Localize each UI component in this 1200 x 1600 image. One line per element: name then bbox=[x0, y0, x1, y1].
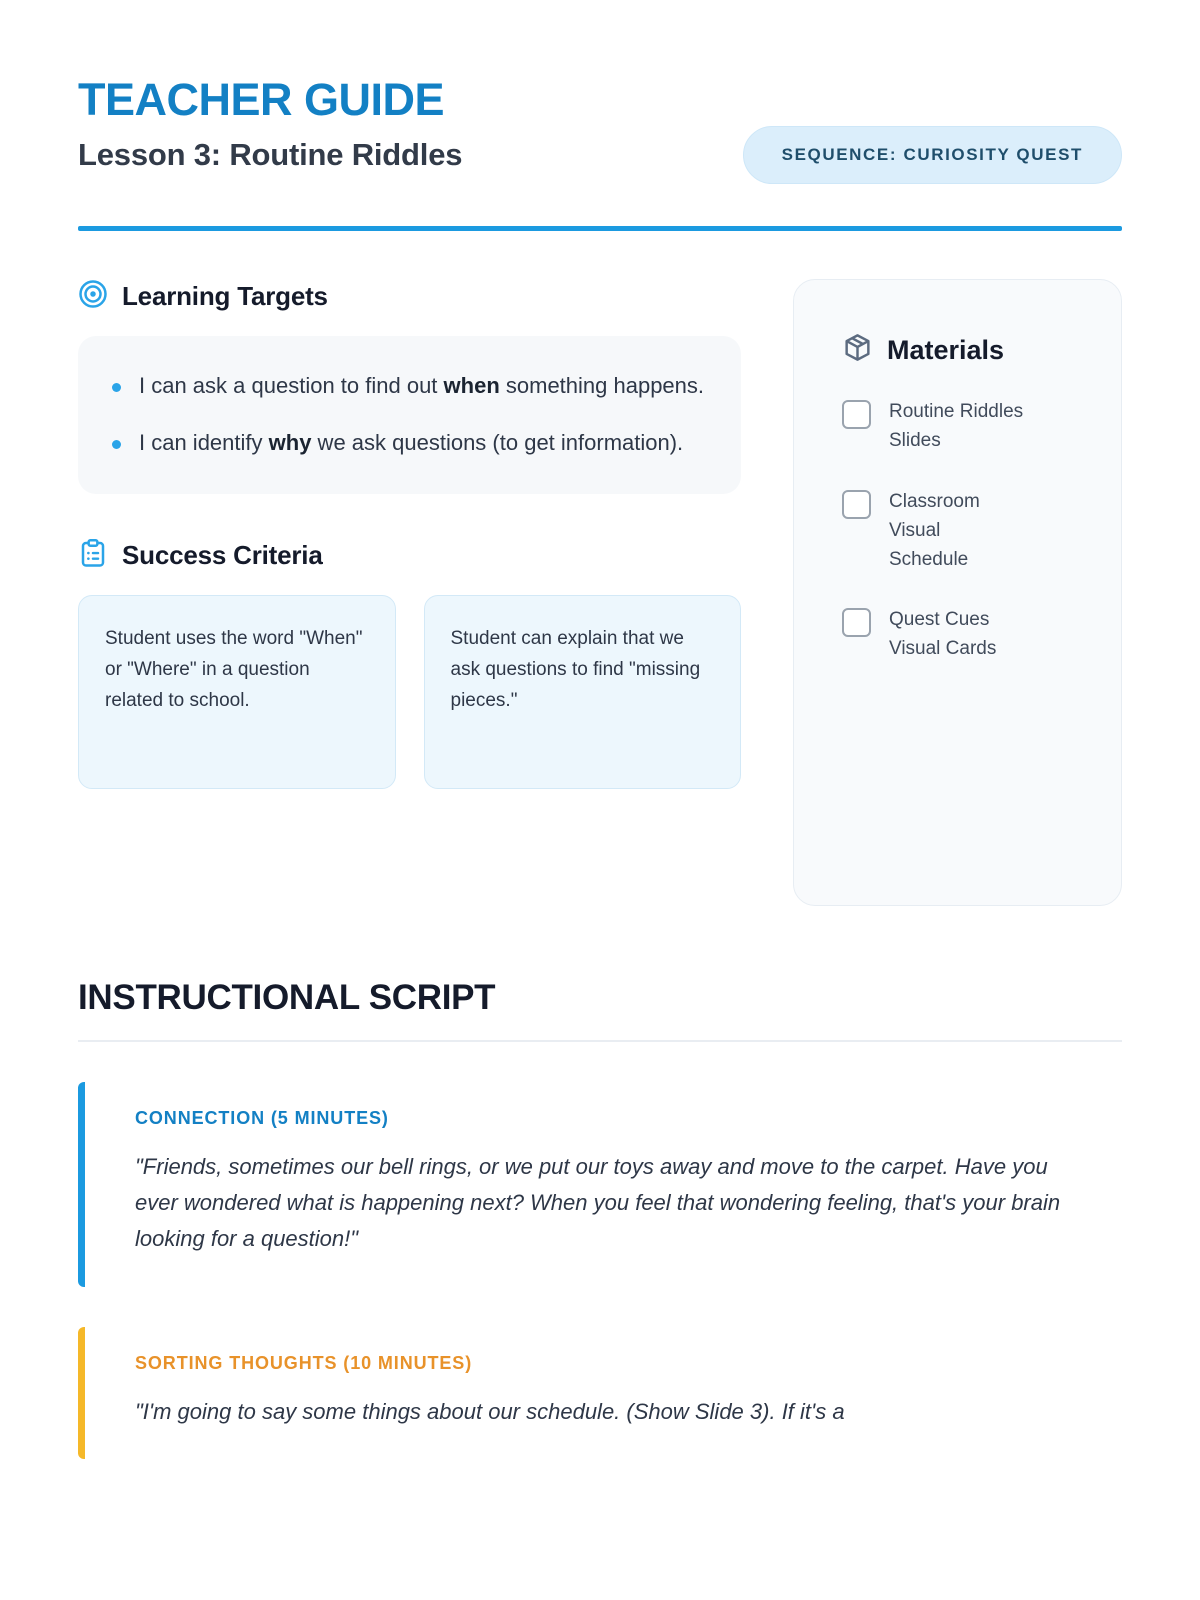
header-divider bbox=[78, 226, 1122, 231]
material-checkbox[interactable] bbox=[842, 400, 871, 429]
material-checkbox[interactable] bbox=[842, 490, 871, 519]
learning-target-item: I can ask a question to find out when so… bbox=[112, 370, 707, 401]
script-divider bbox=[78, 1040, 1122, 1042]
learning-targets-title: Learning Targets bbox=[122, 281, 328, 312]
left-column: Learning Targets I can ask a question to… bbox=[78, 279, 741, 906]
learning-targets-card: I can ask a question to find out when so… bbox=[78, 336, 741, 494]
success-criteria-list: Student uses the word "When" or "Where" … bbox=[78, 595, 741, 789]
teacher-guide-page: TEACHER GUIDE Lesson 3: Routine Riddles … bbox=[0, 0, 1200, 1600]
materials-title: Materials bbox=[887, 335, 1004, 366]
script-block-label: CONNECTION (5 MINUTES) bbox=[135, 1108, 1122, 1129]
materials-header: Materials bbox=[828, 332, 1087, 368]
script-block-connection: CONNECTION (5 MINUTES) "Friends, sometim… bbox=[78, 1082, 1122, 1287]
script-block-text: "I'm going to say some things about our … bbox=[135, 1394, 1095, 1430]
materials-list: Routine Riddles Slides Classroom Visual … bbox=[828, 398, 1087, 664]
success-criteria-card: Student uses the word "When" or "Where" … bbox=[78, 595, 396, 789]
material-item[interactable]: Routine Riddles Slides bbox=[828, 398, 1087, 456]
success-criteria-card: Student can explain that we ask question… bbox=[424, 595, 742, 789]
material-label: Routine Riddles Slides bbox=[889, 398, 1024, 456]
material-item[interactable]: Quest Cues Visual Cards bbox=[828, 606, 1087, 664]
learning-target-text: I can identify why we ask questions (to … bbox=[139, 427, 683, 458]
material-label: Quest Cues Visual Cards bbox=[889, 606, 1024, 664]
sequence-badge: SEQUENCE: CURIOSITY QUEST bbox=[743, 126, 1122, 184]
package-box-icon bbox=[842, 332, 873, 368]
learning-target-item: I can identify why we ask questions (to … bbox=[112, 427, 707, 458]
clipboard-list-icon bbox=[78, 538, 108, 573]
script-block-label: SORTING THOUGHTS (10 MINUTES) bbox=[135, 1353, 1122, 1374]
target-icon bbox=[78, 279, 108, 314]
bullet-icon bbox=[112, 383, 121, 392]
material-label: Classroom Visual Schedule bbox=[889, 488, 1024, 575]
right-column: Materials Routine Riddles Slides Classro… bbox=[793, 279, 1122, 906]
success-criteria-title: Success Criteria bbox=[122, 540, 323, 571]
header-titles: TEACHER GUIDE Lesson 3: Routine Riddles bbox=[78, 76, 462, 173]
material-checkbox[interactable] bbox=[842, 608, 871, 637]
instructional-script-section: INSTRUCTIONAL SCRIPT CONNECTION (5 MINUT… bbox=[78, 978, 1122, 1459]
main-content: Learning Targets I can ask a question to… bbox=[78, 279, 1122, 906]
page-header: TEACHER GUIDE Lesson 3: Routine Riddles … bbox=[78, 0, 1122, 184]
material-item[interactable]: Classroom Visual Schedule bbox=[828, 488, 1087, 575]
success-criteria-header: Success Criteria bbox=[78, 538, 741, 573]
bullet-icon bbox=[112, 440, 121, 449]
learning-targets-header: Learning Targets bbox=[78, 279, 741, 314]
instructional-script-title: INSTRUCTIONAL SCRIPT bbox=[78, 978, 1122, 1018]
materials-panel: Materials Routine Riddles Slides Classro… bbox=[793, 279, 1122, 906]
script-block-sorting-thoughts: SORTING THOUGHTS (10 MINUTES) "I'm going… bbox=[78, 1327, 1122, 1460]
lesson-subtitle: Lesson 3: Routine Riddles bbox=[78, 137, 462, 173]
page-title: TEACHER GUIDE bbox=[78, 76, 462, 125]
script-block-text: "Friends, sometimes our bell rings, or w… bbox=[135, 1149, 1095, 1257]
learning-target-text: I can ask a question to find out when so… bbox=[139, 370, 704, 401]
